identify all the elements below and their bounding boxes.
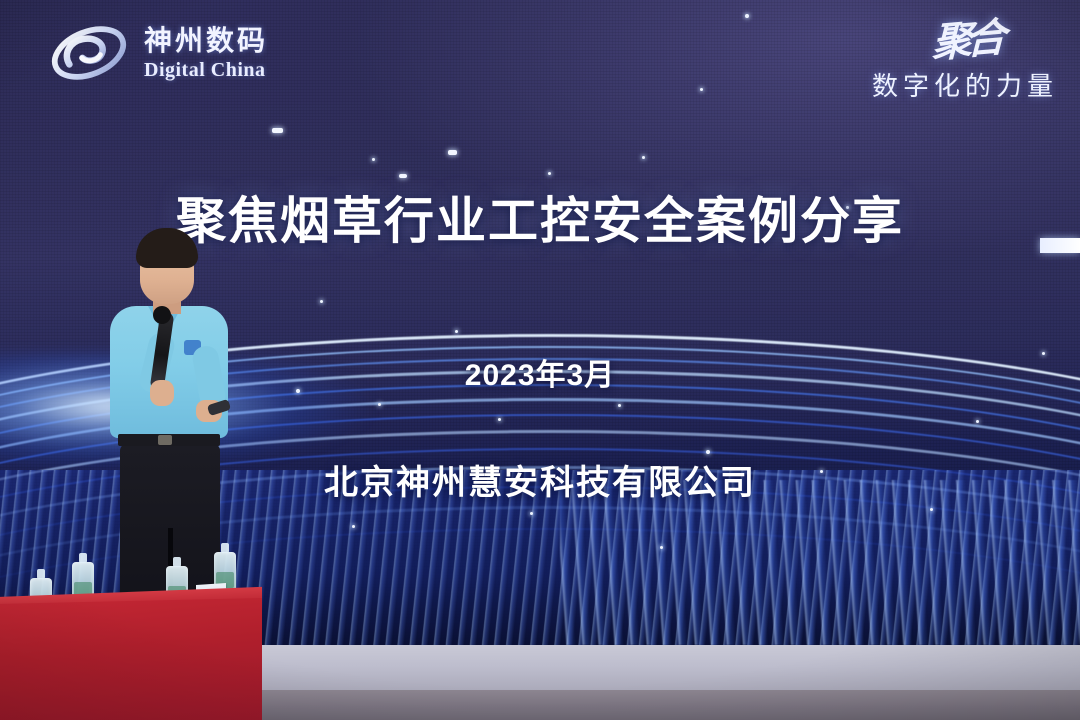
digital-china-swirl-icon [48, 22, 130, 84]
wave-vertical-streaks [560, 480, 1080, 645]
speaker-belt-buckle [158, 435, 172, 445]
right-bar-accent [1040, 238, 1080, 253]
logo-name-en: Digital China [144, 60, 268, 80]
event-slogan: 聚合 数字化的力量 [872, 18, 1058, 103]
speaker-hair [136, 228, 198, 268]
table-skirt [0, 598, 262, 720]
speaker-left-hand [150, 380, 174, 406]
slogan-calligraphy: 聚合 [872, 18, 1000, 69]
logo-name-cn: 神州数码 [144, 27, 268, 55]
slogan-tagline: 数字化的力量 [872, 66, 1058, 103]
digital-china-logo: 神州数码 Digital China [48, 22, 268, 84]
conference-stage-photo: 神州数码 Digital China 聚合 数字化的力量 聚焦烟草行业工控安全案… [0, 0, 1080, 720]
